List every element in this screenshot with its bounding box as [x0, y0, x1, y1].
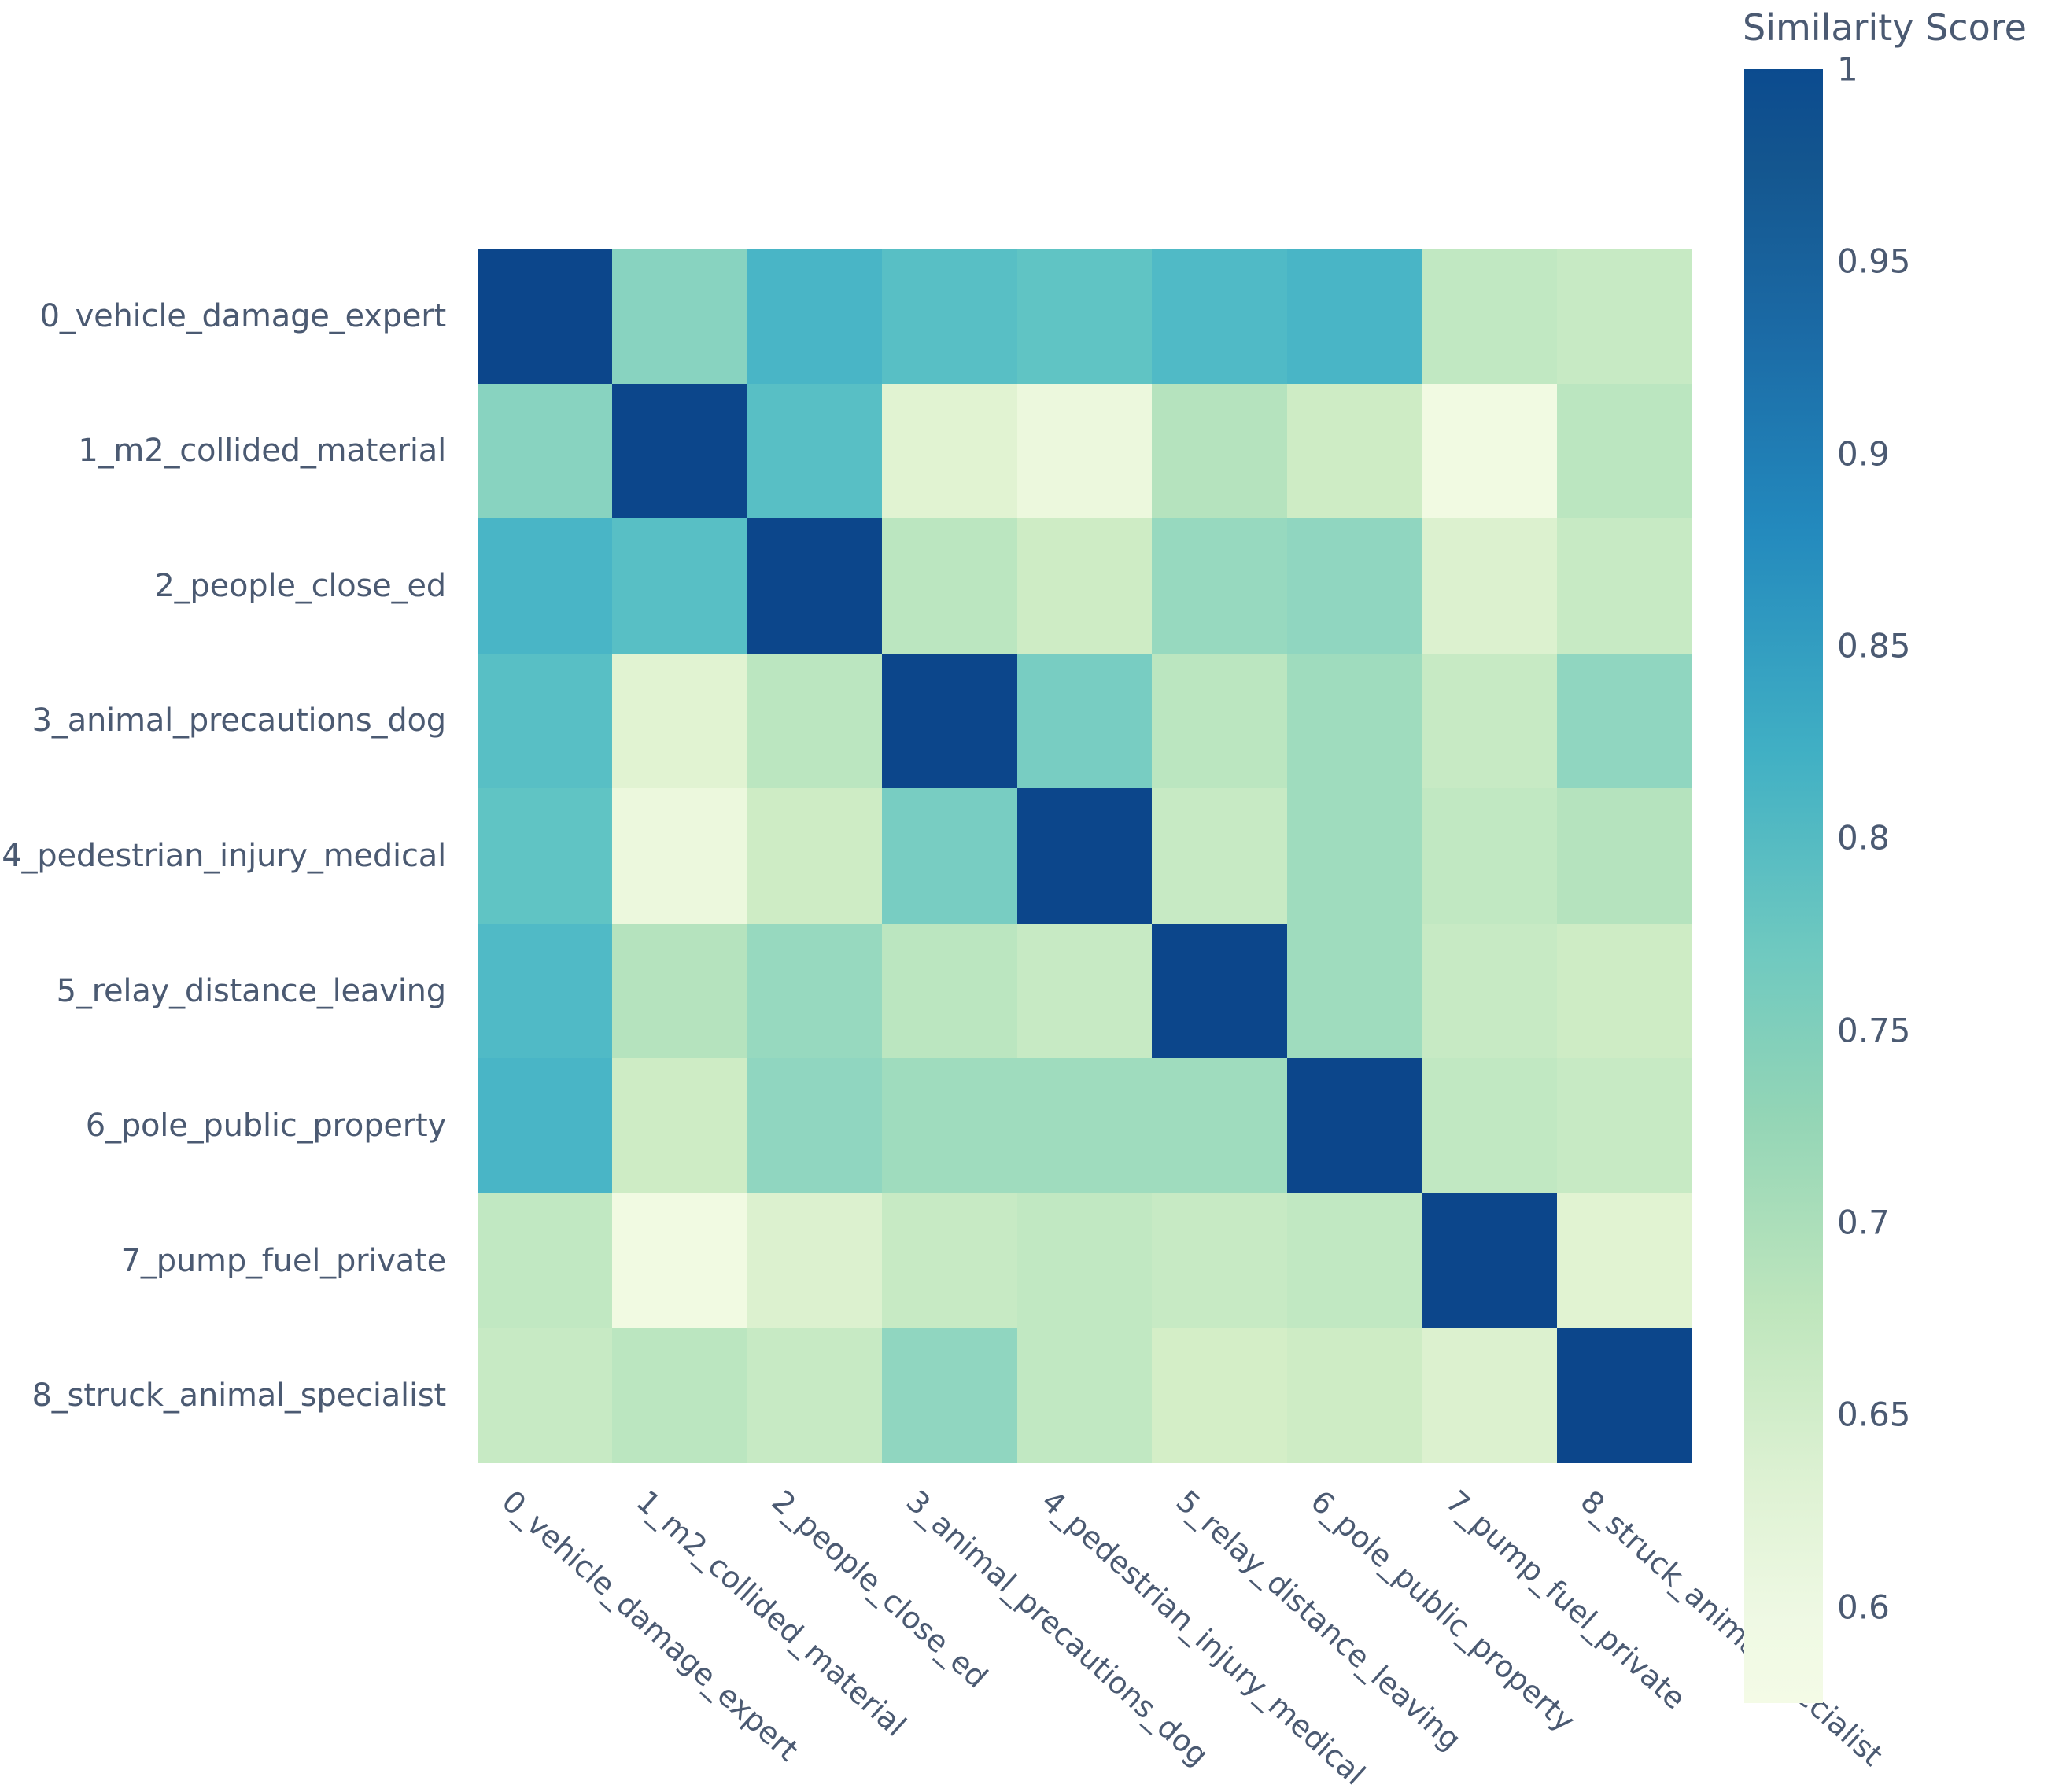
heatmap-cell[interactable] — [478, 654, 612, 789]
y-axis: 0_vehicle_damage_expert1_m2_collided_mat… — [0, 249, 460, 1463]
heatmap-cell[interactable] — [1422, 1328, 1556, 1463]
heatmap-cell[interactable] — [1017, 1328, 1152, 1463]
heatmap-cell[interactable] — [1017, 1193, 1152, 1329]
y-axis-tick-label: 3_animal_precautions_dog — [0, 654, 460, 789]
heatmap-cell[interactable] — [1557, 249, 1692, 384]
heatmap-cell[interactable] — [1152, 384, 1286, 519]
heatmap-cell[interactable] — [478, 1058, 612, 1193]
heatmap-cell[interactable] — [882, 384, 1016, 519]
heatmap-cell[interactable] — [1422, 1193, 1556, 1329]
heatmap-cell[interactable] — [747, 1328, 882, 1463]
heatmap-cell[interactable] — [1422, 654, 1556, 789]
heatmap-cell[interactable] — [1017, 518, 1152, 654]
colorbar-tick-label: 0.9 — [1837, 434, 1890, 473]
heatmap-cell[interactable] — [1152, 924, 1286, 1059]
heatmap-cell[interactable] — [1287, 1058, 1422, 1193]
heatmap-cell[interactable] — [1557, 384, 1692, 519]
heatmap-cell[interactable] — [1152, 654, 1286, 789]
colorbar-gradient — [1744, 69, 1823, 1703]
heatmap-cell[interactable] — [747, 1193, 882, 1329]
colorbar-tick-label: 1 — [1837, 50, 1858, 89]
colorbar-tick-label: 0.95 — [1837, 242, 1911, 281]
colorbar-ticks: 10.950.90.850.80.750.70.650.6 — [1837, 69, 2042, 1703]
heatmap-cell[interactable] — [1152, 518, 1286, 654]
heatmap-cell[interactable] — [1017, 924, 1152, 1059]
heatmap-cell[interactable] — [1422, 518, 1556, 654]
heatmap-cell[interactable] — [882, 924, 1016, 1059]
heatmap-cell[interactable] — [747, 654, 882, 789]
heatmap-cell[interactable] — [882, 249, 1016, 384]
heatmap-cell[interactable] — [882, 518, 1016, 654]
heatmap-cell[interactable] — [1422, 249, 1556, 384]
y-axis-tick-label: 6_pole_public_property — [0, 1058, 460, 1193]
heatmap-cell[interactable] — [747, 924, 882, 1059]
heatmap-cell[interactable] — [1557, 1193, 1692, 1329]
heatmap-cell[interactable] — [612, 249, 747, 384]
heatmap-cell[interactable] — [478, 1193, 612, 1329]
heatmap-cell[interactable] — [1017, 249, 1152, 384]
heatmap-cell[interactable] — [612, 788, 747, 924]
heatmap-cell[interactable] — [1557, 788, 1692, 924]
x-axis: 0_vehicle_damage_expert1_m2_collided_mat… — [478, 1463, 1692, 1746]
heatmap-cell[interactable] — [1557, 518, 1692, 654]
heatmap-cell[interactable] — [1017, 788, 1152, 924]
heatmap-cell[interactable] — [1557, 654, 1692, 789]
heatmap-cell[interactable] — [1287, 1193, 1422, 1329]
colorbar-tick-label: 0.65 — [1837, 1396, 1911, 1434]
heatmap-cell[interactable] — [882, 1058, 1016, 1193]
colorbar-tick-label: 0.75 — [1837, 1011, 1911, 1049]
heatmap-cell[interactable] — [1422, 384, 1556, 519]
colorbar-tick-label: 0.8 — [1837, 819, 1890, 857]
heatmap-cell[interactable] — [747, 1058, 882, 1193]
heatmap-cell[interactable] — [1152, 1193, 1286, 1329]
heatmap-cell[interactable] — [747, 249, 882, 384]
heatmap-plot: 0_vehicle_damage_expert1_m2_collided_mat… — [0, 0, 2055, 1746]
heatmap-cell[interactable] — [1287, 924, 1422, 1059]
heatmap-cell[interactable] — [1422, 788, 1556, 924]
y-axis-tick-label: 2_people_close_ed — [0, 518, 460, 654]
heatmap-cell[interactable] — [1287, 1328, 1422, 1463]
heatmap-cell[interactable] — [882, 788, 1016, 924]
heatmap-matrix[interactable] — [478, 249, 1692, 1463]
heatmap-cell[interactable] — [612, 654, 747, 789]
heatmap-cell[interactable] — [747, 788, 882, 924]
heatmap-cell[interactable] — [478, 1328, 612, 1463]
heatmap-cell[interactable] — [1287, 249, 1422, 384]
heatmap-cell[interactable] — [1152, 1328, 1286, 1463]
heatmap-cell[interactable] — [1287, 654, 1422, 789]
y-axis-tick-label: 4_pedestrian_injury_medical — [0, 788, 460, 924]
y-axis-tick-label: 8_struck_animal_specialist — [0, 1329, 460, 1464]
heatmap-cell[interactable] — [882, 1193, 1016, 1329]
heatmap-cell[interactable] — [612, 518, 747, 654]
heatmap-cell[interactable] — [1287, 788, 1422, 924]
heatmap-cell[interactable] — [612, 1058, 747, 1193]
colorbar-title: Similarity Score — [1743, 6, 2027, 49]
y-axis-tick-label: 5_relay_distance_leaving — [0, 924, 460, 1059]
heatmap-cell[interactable] — [1557, 924, 1692, 1059]
heatmap-cell[interactable] — [747, 384, 882, 519]
heatmap-cell[interactable] — [478, 924, 612, 1059]
heatmap-cell[interactable] — [1152, 788, 1286, 924]
colorbar-tick-label: 0.85 — [1837, 627, 1911, 666]
colorbar-tick-label: 0.6 — [1837, 1587, 1890, 1626]
heatmap-cell[interactable] — [478, 384, 612, 519]
heatmap-cell[interactable] — [612, 1328, 747, 1463]
y-axis-tick-label: 0_vehicle_damage_expert — [0, 249, 460, 384]
heatmap-cell[interactable] — [1287, 384, 1422, 519]
heatmap-cell[interactable] — [1017, 384, 1152, 519]
heatmap-cell[interactable] — [1557, 1328, 1692, 1463]
heatmap-cell[interactable] — [612, 924, 747, 1059]
heatmap-cell[interactable] — [1557, 1058, 1692, 1193]
y-axis-tick-label: 7_pump_fuel_private — [0, 1193, 460, 1329]
heatmap-cell[interactable] — [1152, 1058, 1286, 1193]
heatmap-cell[interactable] — [478, 249, 612, 384]
colorbar-tick-label: 0.7 — [1837, 1204, 1890, 1242]
heatmap-cell[interactable] — [882, 1328, 1016, 1463]
heatmap-cell[interactable] — [478, 788, 612, 924]
heatmap-cell[interactable] — [1017, 1058, 1152, 1193]
heatmap-cell[interactable] — [612, 384, 747, 519]
y-axis-tick-label: 1_m2_collided_material — [0, 384, 460, 519]
heatmap-cell[interactable] — [882, 654, 1016, 789]
heatmap-cell[interactable] — [1152, 249, 1286, 384]
heatmap-cell[interactable] — [1017, 654, 1152, 789]
heatmap-cell[interactable] — [747, 518, 882, 654]
heatmap-cell[interactable] — [1422, 924, 1556, 1059]
heatmap-cell[interactable] — [1422, 1058, 1556, 1193]
heatmap-cell[interactable] — [612, 1193, 747, 1329]
heatmap-cell[interactable] — [478, 518, 612, 654]
heatmap-cell[interactable] — [1287, 518, 1422, 654]
